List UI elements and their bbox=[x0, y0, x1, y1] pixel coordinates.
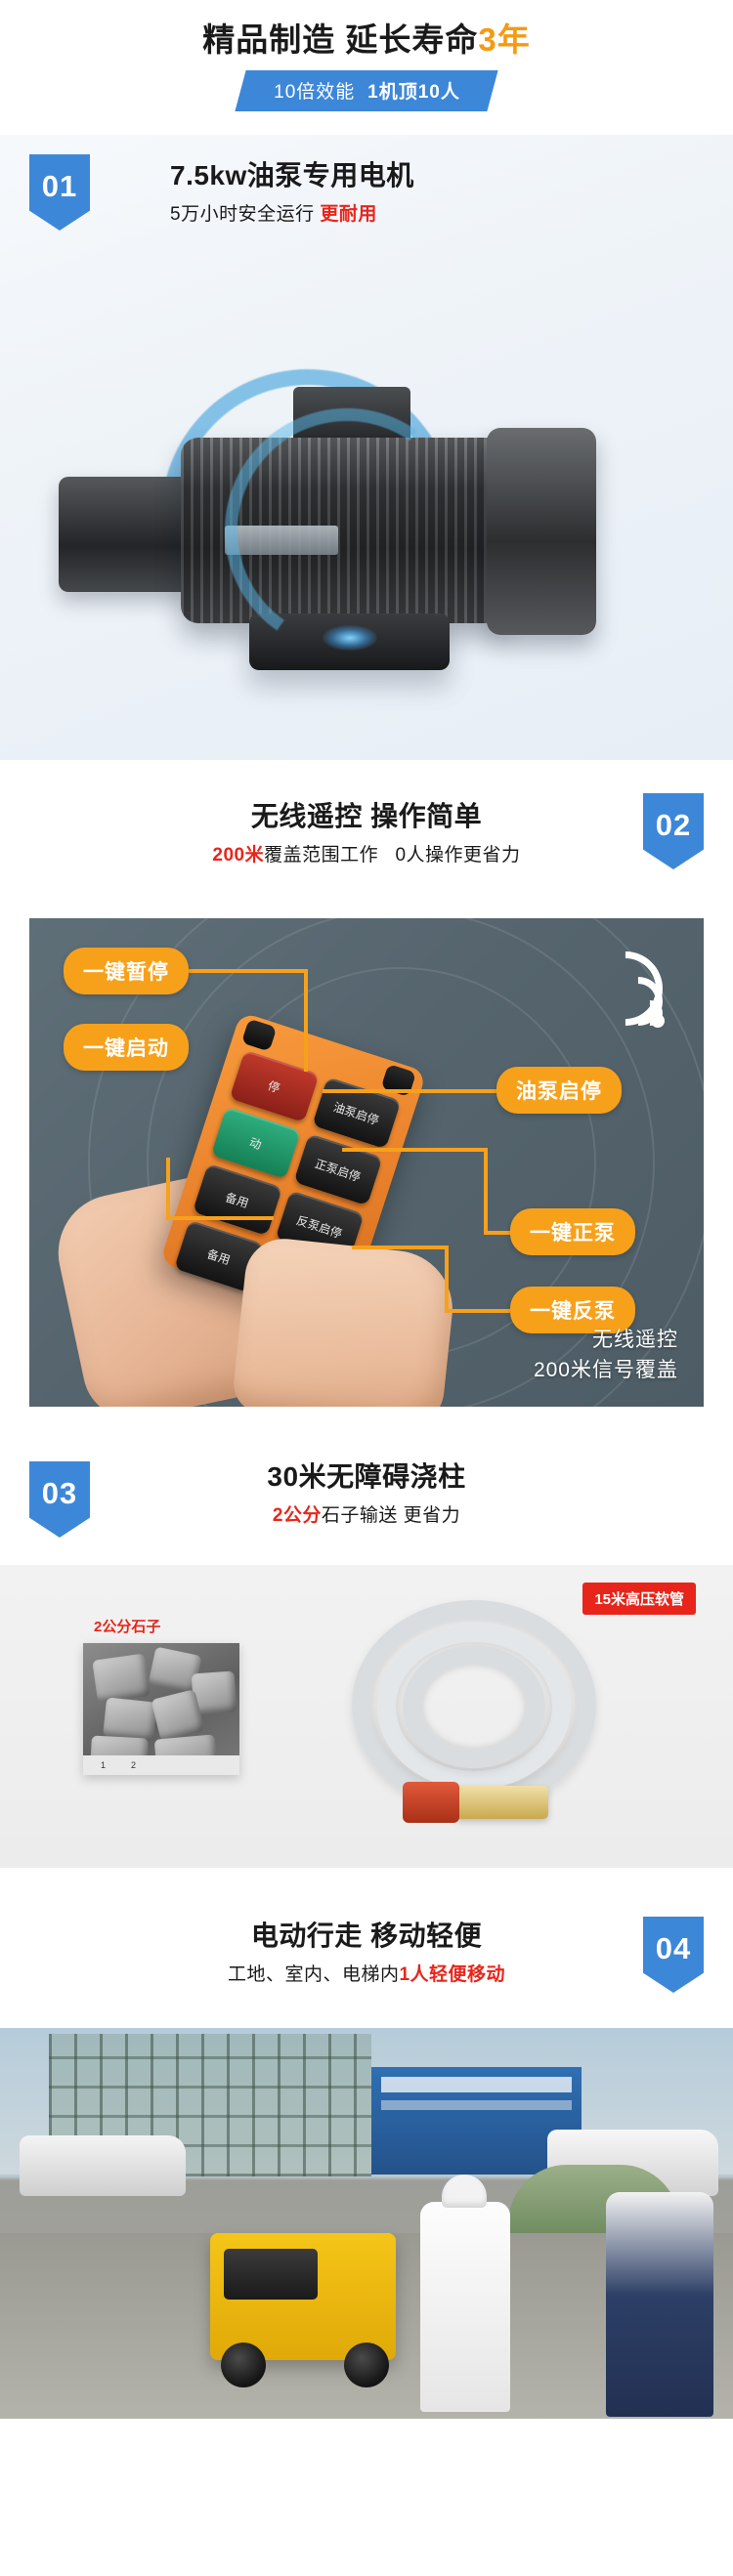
callout-pump: 油泵启停 bbox=[496, 1067, 622, 1114]
page-title-main: 精品制造 延长寿命 bbox=[202, 21, 478, 58]
section-01-text: 7.5kw油泵专用电机 5万小时安全运行 更耐用 bbox=[170, 154, 414, 226]
section-02-sub-normal: 覆盖范围工作 bbox=[264, 845, 378, 866]
section-01-title: 7.5kw油泵专用电机 bbox=[170, 158, 414, 192]
section-02-head: 无线遥控 操作简单 200米覆盖范围工作 0人操作更省力 02 bbox=[0, 799, 733, 907]
remote-control-photo: 停 油泵启停 动 正泵启停 备用 反泵启停 备用 备用 一键暂停 一键启动 油泵… bbox=[29, 918, 704, 1407]
ruler-mark-1: 1 bbox=[101, 1760, 106, 1770]
worker-in-blue bbox=[606, 2192, 713, 2417]
banner-text-left: 10倍效能 bbox=[274, 77, 355, 104]
connector-forward-h2 bbox=[484, 1231, 513, 1235]
callout-forward: 一键正泵 bbox=[510, 1208, 635, 1255]
section-03-sub-normal: 石子输送 更省力 bbox=[322, 1505, 460, 1526]
connector-forward-v bbox=[484, 1148, 488, 1231]
tag-stone-size: 2公分石子 bbox=[94, 1616, 160, 1636]
section-01-head: 01 7.5kw油泵专用电机 5万小时安全运行 更耐用 bbox=[29, 154, 414, 231]
section-03-text: 30米无障碍浇柱 2公分石子输送 更省力 bbox=[0, 1459, 733, 1527]
section-02-sub-normal2: 0人操作更省力 bbox=[395, 845, 520, 866]
ruler-mark-2: 2 bbox=[131, 1760, 136, 1770]
remote-screw-left-icon bbox=[241, 1019, 278, 1052]
connector-pause-v bbox=[304, 969, 308, 1072]
header-banner-wrap: 10倍效能 1机顶10人 bbox=[0, 70, 733, 111]
hose-coil-3 bbox=[403, 1645, 545, 1768]
banner-text-right: 1机顶10人 bbox=[367, 77, 460, 104]
page-title-highlight: 3年 bbox=[478, 21, 530, 58]
hand-right bbox=[231, 1235, 458, 1407]
pump-head bbox=[59, 477, 191, 592]
section-03-title: 30米无障碍浇柱 bbox=[0, 1459, 733, 1494]
photo-caption-line1: 无线遥控 bbox=[534, 1326, 678, 1355]
page-title: 精品制造 延长寿命3年 bbox=[0, 21, 733, 59]
section-01: 01 7.5kw油泵专用电机 5万小时安全运行 更耐用 bbox=[0, 135, 733, 760]
section-04-head: 电动行走 移动轻便 工地、室内、电梯内1人轻便移动 04 bbox=[0, 1919, 733, 2028]
connector-forward-h1 bbox=[342, 1148, 484, 1152]
section-04: 电动行走 移动轻便 工地、室内、电梯内1人轻便移动 04 bbox=[0, 1919, 733, 2419]
section-03: 03 30米无障碍浇柱 2公分石子输送 更省力 15米高压软管 2公分石子 1 … bbox=[0, 1452, 733, 1868]
section-03-sub-red: 2公分 bbox=[273, 1505, 322, 1526]
connector-start-v bbox=[166, 1158, 170, 1216]
section-04-sub-red: 1人轻便移动 bbox=[399, 1964, 505, 1985]
section-04-subtitle: 工地、室内、电梯内1人轻便移动 bbox=[0, 1960, 733, 1986]
machine-wheel-right bbox=[344, 2343, 389, 2387]
machine-control-panel bbox=[224, 2249, 318, 2300]
connector-reverse-h1 bbox=[352, 1246, 445, 1249]
section-02-subtitle: 200米覆盖范围工作 0人操作更省力 bbox=[0, 840, 733, 866]
section-01-sub-red: 更耐用 bbox=[320, 204, 377, 225]
page-header: 精品制造 延长寿命3年 10倍效能 1机顶10人 bbox=[0, 0, 733, 111]
hose-red-coupler bbox=[403, 1782, 459, 1823]
section-03-head: 03 30米无障碍浇柱 2公分石子输送 更省力 bbox=[0, 1452, 733, 1565]
high-pressure-hose bbox=[293, 1594, 694, 1848]
connector-start bbox=[166, 1216, 274, 1220]
construction-site-photo bbox=[0, 2028, 733, 2419]
stone-4 bbox=[103, 1697, 157, 1741]
header-banner: 10倍效能 1机顶10人 bbox=[235, 70, 498, 111]
stone-ruler: 1 2 bbox=[83, 1755, 239, 1775]
worker-in-white bbox=[420, 2202, 510, 2412]
section-01-sub-normal: 5万小时安全运行 bbox=[170, 204, 315, 225]
section-02: 无线遥控 操作简单 200米覆盖范围工作 0人操作更省力 02 停 油泵启停 动… bbox=[0, 799, 733, 1407]
section-02-title: 无线遥控 操作简单 bbox=[0, 799, 733, 833]
wifi-signal-icon bbox=[577, 955, 663, 1026]
concrete-pump-machine bbox=[210, 2233, 396, 2360]
parked-van-left bbox=[20, 2135, 186, 2196]
section-03-subtitle: 2公分石子输送 更省力 bbox=[0, 1500, 733, 1527]
motor-fan-cover bbox=[487, 428, 596, 635]
photo-caption: 无线遥控 200米信号覆盖 bbox=[534, 1326, 678, 1385]
motor-illustration bbox=[0, 281, 733, 760]
hose-brass-fitting bbox=[454, 1786, 548, 1819]
section-02-text: 无线遥控 操作简单 200米覆盖范围工作 0人操作更省力 bbox=[0, 799, 733, 866]
connector-pause bbox=[189, 969, 304, 973]
section-04-title: 电动行走 移动轻便 bbox=[0, 1919, 733, 1953]
callout-pause: 一键暂停 bbox=[64, 948, 189, 994]
section-02-sub-red: 200米 bbox=[212, 845, 264, 866]
connector-pump bbox=[323, 1089, 498, 1093]
callout-start: 一键启动 bbox=[64, 1024, 189, 1071]
section-04-sub-normal: 工地、室内、电梯内 bbox=[228, 1964, 400, 1985]
safety-helmet-icon bbox=[442, 2175, 487, 2208]
stone-sample-photo: 1 2 bbox=[83, 1643, 239, 1775]
connector-reverse-v bbox=[445, 1246, 449, 1309]
section-04-text: 电动行走 移动轻便 工地、室内、电梯内1人轻便移动 bbox=[0, 1919, 733, 1986]
hose-and-stone-photo: 15米高压软管 2公分石子 1 2 bbox=[0, 1565, 733, 1868]
photo-caption-line2: 200米信号覆盖 bbox=[534, 1356, 678, 1385]
stone-1 bbox=[92, 1653, 151, 1703]
section-01-subtitle: 5万小时安全运行 更耐用 bbox=[170, 199, 414, 226]
machine-wheel-left bbox=[221, 2343, 266, 2387]
connector-reverse-h2 bbox=[445, 1309, 513, 1313]
section-01-badge: 01 bbox=[29, 154, 90, 231]
